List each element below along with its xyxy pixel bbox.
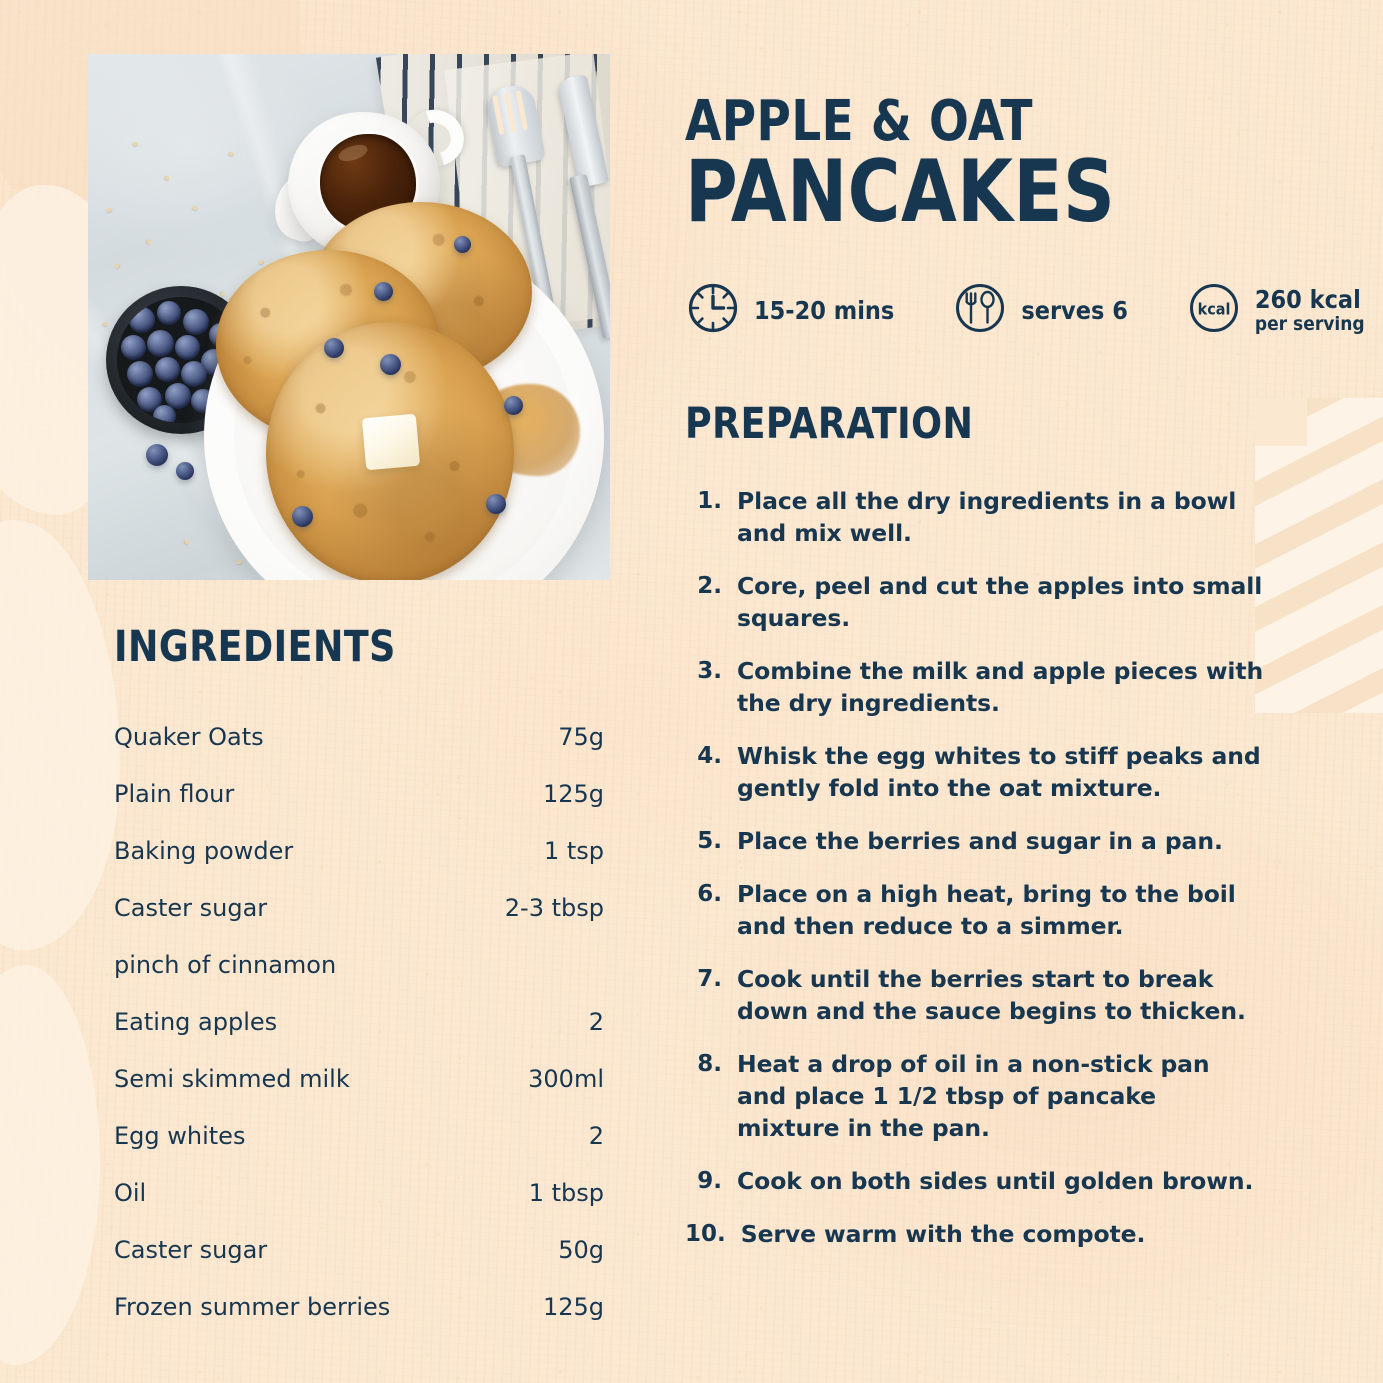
blueberry-on-pancake <box>324 338 344 358</box>
preparation-step: 3.Combine the milk and apple pieces with… <box>685 655 1305 719</box>
preparation-step: 6.Place on a high heat, bring to the boi… <box>685 878 1305 942</box>
ingredient-quantity: 125g <box>543 1292 604 1322</box>
preparation-step-text: Place all the dry ingredients in a bowl … <box>737 485 1265 549</box>
ingredient-row: Quaker Oats75g <box>114 722 604 752</box>
preparation-step-text: Cook until the berries start to break do… <box>737 963 1265 1027</box>
kcal-icon: kcal <box>1186 280 1242 341</box>
ingredient-row: Caster sugar50g <box>114 1235 604 1265</box>
blueberry-on-pancake <box>504 396 523 415</box>
meta-item-time: 15-20 mins <box>685 280 894 341</box>
blueberry-on-plate <box>292 506 313 527</box>
preparation-step-number: 8. <box>685 1048 737 1144</box>
ingredients-section: Ingredients Quaker Oats75gPlain flour125… <box>114 624 604 1349</box>
preparation-step-text: Combine the milk and apple pieces with t… <box>737 655 1265 719</box>
ingredient-row: Frozen summer berries125g <box>114 1292 604 1322</box>
preparation-step-number: 2. <box>685 570 737 634</box>
meta-item-serves: serves 6 <box>952 280 1128 341</box>
decorative-brush-shape-mid-left <box>0 520 120 950</box>
preparation-step: 7.Cook until the berries start to break … <box>685 963 1305 1027</box>
recipe-meta-row: 15-20 mins <box>685 280 1305 341</box>
ingredient-name: Quaker Oats <box>114 722 264 752</box>
clock-icon <box>685 280 741 341</box>
recipe-card: Apple & Oat Pancakes <box>0 0 1383 1383</box>
ingredient-quantity: 1 tsp <box>544 836 604 866</box>
preparation-step-text: Whisk the egg whites to stiff peaks and … <box>737 740 1265 804</box>
preparation-step-number: 9. <box>685 1165 737 1197</box>
ingredient-quantity: 2-3 tbsp <box>505 893 604 923</box>
blueberry-on-pancake <box>454 236 471 253</box>
preparation-step: 8.Heat a drop of oil in a non-stick pan … <box>685 1048 1305 1144</box>
recipe-photo <box>88 54 610 580</box>
ingredients-heading: Ingredients <box>114 624 575 670</box>
meta-calories-sub: per serving <box>1255 313 1365 335</box>
preparation-step-number: 1. <box>685 485 737 549</box>
preparation-step: 4.Whisk the egg whites to stiff peaks an… <box>685 740 1305 804</box>
preparation-step-number: 6. <box>685 878 737 942</box>
ingredient-name: Caster sugar <box>114 893 267 923</box>
preparation-step: 5.Place the berries and sugar in a pan. <box>685 825 1305 857</box>
ingredient-quantity: 75g <box>558 722 604 752</box>
preparation-step-number: 7. <box>685 963 737 1027</box>
blueberry-on-pancake <box>380 354 401 375</box>
ingredient-name: Egg whites <box>114 1121 245 1151</box>
svg-text:kcal: kcal <box>1197 300 1230 319</box>
preparation-steps-list: 1.Place all the dry ingredients in a bow… <box>685 485 1305 1250</box>
meta-serves-label: serves 6 <box>1021 298 1128 324</box>
ingredient-row: Plain flour125g <box>114 779 604 809</box>
meta-item-calories: kcal 260 kcal per serving <box>1186 280 1365 341</box>
ingredient-name: Baking powder <box>114 836 293 866</box>
ingredient-row: Oil1 tbsp <box>114 1178 604 1208</box>
ingredient-row: Caster sugar2-3 tbsp <box>114 893 604 923</box>
preparation-step-text: Heat a drop of oil in a non-stick pan an… <box>737 1048 1265 1144</box>
loose-blueberry <box>176 462 194 480</box>
meta-calories-label: 260 kcal per serving <box>1255 287 1365 335</box>
ingredient-row: pinch of cinnamon <box>114 950 604 980</box>
ingredient-quantity: 1 tbsp <box>529 1178 604 1208</box>
preparation-step-number: 4. <box>685 740 737 804</box>
preparation-step-text: Core, peel and cut the apples into small… <box>737 570 1265 634</box>
blueberry-on-pancake <box>374 282 393 301</box>
ingredient-name: Eating apples <box>114 1007 277 1037</box>
decorative-brush-shape-lower-left <box>0 965 100 1365</box>
ingredient-name: Caster sugar <box>114 1235 267 1265</box>
blueberry-on-plate <box>486 494 506 514</box>
cutlery-icon <box>952 280 1008 341</box>
ingredient-name: Oil <box>114 1178 146 1208</box>
ingredient-quantity: 50g <box>558 1235 604 1265</box>
preparation-step: 2.Core, peel and cut the apples into sma… <box>685 570 1305 634</box>
ingredient-name: pinch of cinnamon <box>114 950 336 980</box>
ingredient-quantity: 125g <box>543 779 604 809</box>
loose-blueberry <box>146 444 168 466</box>
ingredient-row: Semi skimmed milk300ml <box>114 1064 604 1094</box>
preparation-step: 10.Serve warm with the compote. <box>685 1218 1305 1250</box>
ingredient-row: Eating apples2 <box>114 1007 604 1037</box>
preparation-step-text: Place the berries and sugar in a pan. <box>737 825 1265 857</box>
preparation-step-number: 10. <box>685 1218 741 1250</box>
preparation-heading: Preparation <box>685 401 1268 447</box>
recipe-title-line-2: Pancakes <box>685 148 1262 236</box>
preparation-step-number: 5. <box>685 825 737 857</box>
preparation-step-text: Cook on both sides until golden brown. <box>737 1165 1265 1197</box>
recipe-main-column: Apple & Oat Pancakes <box>685 92 1305 1271</box>
preparation-step-text: Serve warm with the compote. <box>741 1218 1269 1250</box>
preparation-step-text: Place on a high heat, bring to the boil … <box>737 878 1265 942</box>
ingredient-row: Egg whites2 <box>114 1121 604 1151</box>
ingredient-quantity: 2 <box>589 1121 604 1151</box>
ingredient-name: Frozen summer berries <box>114 1292 390 1322</box>
preparation-step: 1.Place all the dry ingredients in a bow… <box>685 485 1305 549</box>
preparation-step-number: 3. <box>685 655 737 719</box>
meta-time-label: 15-20 mins <box>754 298 894 324</box>
ingredient-quantity: 300ml <box>528 1064 604 1094</box>
ingredient-name: Plain flour <box>114 779 234 809</box>
ingredient-name: Semi skimmed milk <box>114 1064 350 1094</box>
butter-knob <box>362 414 420 471</box>
ingredients-list: Quaker Oats75gPlain flour125gBaking powd… <box>114 722 604 1322</box>
ingredient-quantity: 2 <box>589 1007 604 1037</box>
meta-calories-value: 260 kcal <box>1255 285 1361 314</box>
ingredient-row: Baking powder1 tsp <box>114 836 604 866</box>
preparation-step: 9.Cook on both sides until golden brown. <box>685 1165 1305 1197</box>
